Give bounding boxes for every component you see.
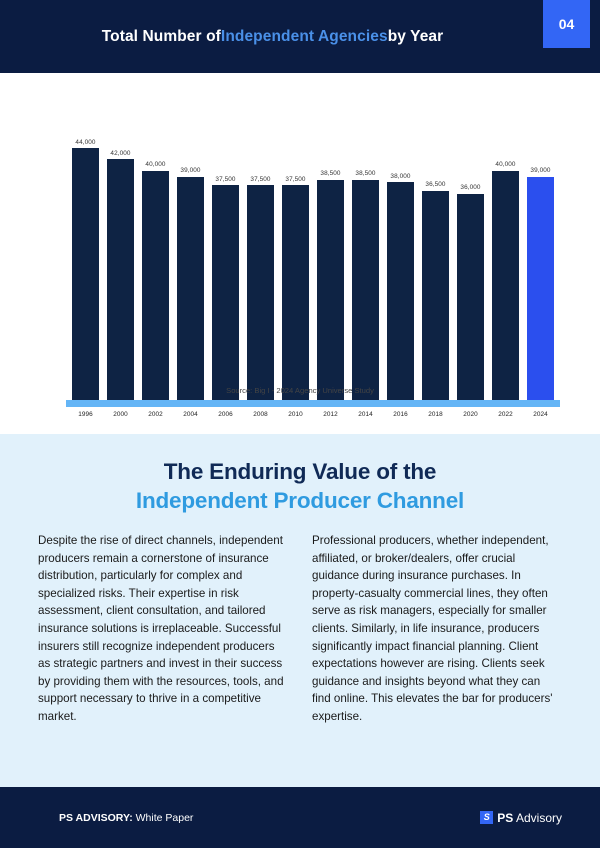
chart-bar-rect xyxy=(422,191,449,400)
chart-bar-2022: 40,000 xyxy=(492,135,519,400)
chart-bar-value-label: 44,000 xyxy=(75,139,95,146)
chart-x-label-2000: 2000 xyxy=(107,411,134,418)
chart-bar-2008: 37,500 xyxy=(247,135,274,400)
value-heading-line-2: Independent Producer Channel xyxy=(0,487,600,514)
bar-chart: 44,00042,00040,00039,00037,50037,50037,5… xyxy=(72,135,554,407)
page-title-suffix: by Year xyxy=(388,28,444,46)
chart-x-label-2010: 2010 xyxy=(282,411,309,418)
body-paragraph-left: Despite the rise of direct channels, ind… xyxy=(38,532,288,726)
value-section: The Enduring Value of the Independent Pr… xyxy=(0,434,600,787)
chart-bar-value-label: 38,500 xyxy=(355,170,375,177)
page-footer: PS ADVISORY: White Paper S PS Advisory xyxy=(0,787,600,848)
ps-advisory-logo: S PS Advisory xyxy=(480,811,562,825)
chart-bar-value-label: 38,500 xyxy=(320,170,340,177)
page-number-badge: 04 xyxy=(543,0,590,48)
chart-bar-rect xyxy=(352,180,379,401)
chart-x-label-2014: 2014 xyxy=(352,411,379,418)
value-section-columns: Despite the rise of direct channels, ind… xyxy=(38,532,563,726)
chart-section: 44,00042,00040,00039,00037,50037,50037,5… xyxy=(0,73,600,434)
chart-bar-rect xyxy=(527,177,554,400)
chart-x-label-2016: 2016 xyxy=(387,411,414,418)
chart-bar-2018: 36,500 xyxy=(422,135,449,400)
chart-x-label-2024: 2024 xyxy=(527,411,554,418)
chart-bar-1996: 44,000 xyxy=(72,135,99,400)
footer-label-rest: White Paper xyxy=(133,812,194,824)
page-title-accent: Independent Agencies xyxy=(221,28,388,46)
logo-text-rest: Advisory xyxy=(513,811,562,825)
chart-bar-rect xyxy=(247,185,274,400)
chart-bar-value-label: 36,500 xyxy=(425,181,445,188)
chart-bar-rect xyxy=(177,177,204,400)
chart-bar-value-label: 37,500 xyxy=(250,176,270,183)
chart-bar-value-label: 40,000 xyxy=(145,161,165,168)
chart-x-label-2018: 2018 xyxy=(422,411,449,418)
chart-bar-rect xyxy=(387,182,414,400)
chart-axis-line xyxy=(66,400,560,407)
chart-bar-value-label: 37,500 xyxy=(215,176,235,183)
chart-bar-rect xyxy=(492,171,519,400)
footer-label: PS ADVISORY: White Paper xyxy=(59,812,193,824)
chart-bar-rect xyxy=(142,171,169,400)
footer-label-bold: PS ADVISORY: xyxy=(59,812,133,824)
chart-bar-value-label: 38,000 xyxy=(390,173,410,180)
chart-bar-2014: 38,500 xyxy=(352,135,379,400)
chart-bar-rect xyxy=(317,180,344,401)
chart-x-label-1996: 1996 xyxy=(72,411,99,418)
chart-x-label-2012: 2012 xyxy=(317,411,344,418)
chart-x-label-2022: 2022 xyxy=(492,411,519,418)
value-heading-line-1: The Enduring Value of the xyxy=(0,458,600,485)
chart-bar-2016: 38,000 xyxy=(387,135,414,400)
chart-bar-value-label: 39,000 xyxy=(180,167,200,174)
chart-bar-rect xyxy=(72,148,99,400)
chart-bar-value-label: 42,000 xyxy=(110,150,130,157)
chart-bar-2002: 40,000 xyxy=(142,135,169,400)
chart-bar-2010: 37,500 xyxy=(282,135,309,400)
chart-x-label-2006: 2006 xyxy=(212,411,239,418)
chart-bar-value-label: 36,000 xyxy=(460,184,480,191)
chart-bar-rect xyxy=(457,194,484,400)
ps-advisory-logo-mark-icon: S xyxy=(480,811,493,824)
chart-bar-rect xyxy=(212,185,239,400)
chart-bar-2012: 38,500 xyxy=(317,135,344,400)
white-paper-page: Total Number of Independent Agencies by … xyxy=(0,0,600,848)
chart-bar-rect xyxy=(107,159,134,400)
logo-text-bold: PS xyxy=(497,811,513,825)
chart-x-label-2002: 2002 xyxy=(142,411,169,418)
body-paragraph-right: Professional producers, whether independ… xyxy=(312,532,562,726)
chart-plot-area: 44,00042,00040,00039,00037,50037,50037,5… xyxy=(72,135,554,400)
chart-bar-2000: 42,000 xyxy=(107,135,134,400)
chart-bar-2006: 37,500 xyxy=(212,135,239,400)
chart-bar-rect xyxy=(282,185,309,400)
page-title-prefix: Total Number of xyxy=(102,28,221,46)
page-title: Total Number of Independent Agencies by … xyxy=(0,0,545,73)
chart-bar-2020: 36,000 xyxy=(457,135,484,400)
chart-source-note: Source: Big I - 2024 Agency Universe Stu… xyxy=(0,386,600,395)
ps-advisory-logo-text: PS Advisory xyxy=(497,811,562,825)
chart-x-label-2008: 2008 xyxy=(247,411,274,418)
chart-bar-value-label: 39,000 xyxy=(530,167,550,174)
chart-x-label-2004: 2004 xyxy=(177,411,204,418)
chart-bar-value-label: 37,500 xyxy=(285,176,305,183)
page-header: Total Number of Independent Agencies by … xyxy=(0,0,600,73)
value-section-heading: The Enduring Value of the Independent Pr… xyxy=(0,434,600,514)
chart-bar-2024: 39,000 xyxy=(527,135,554,400)
chart-x-label-2020: 2020 xyxy=(457,411,484,418)
chart-bar-value-label: 40,000 xyxy=(495,161,515,168)
chart-x-axis-labels: 1996200020022004200620082010201220142016… xyxy=(72,411,554,418)
chart-bar-2004: 39,000 xyxy=(177,135,204,400)
